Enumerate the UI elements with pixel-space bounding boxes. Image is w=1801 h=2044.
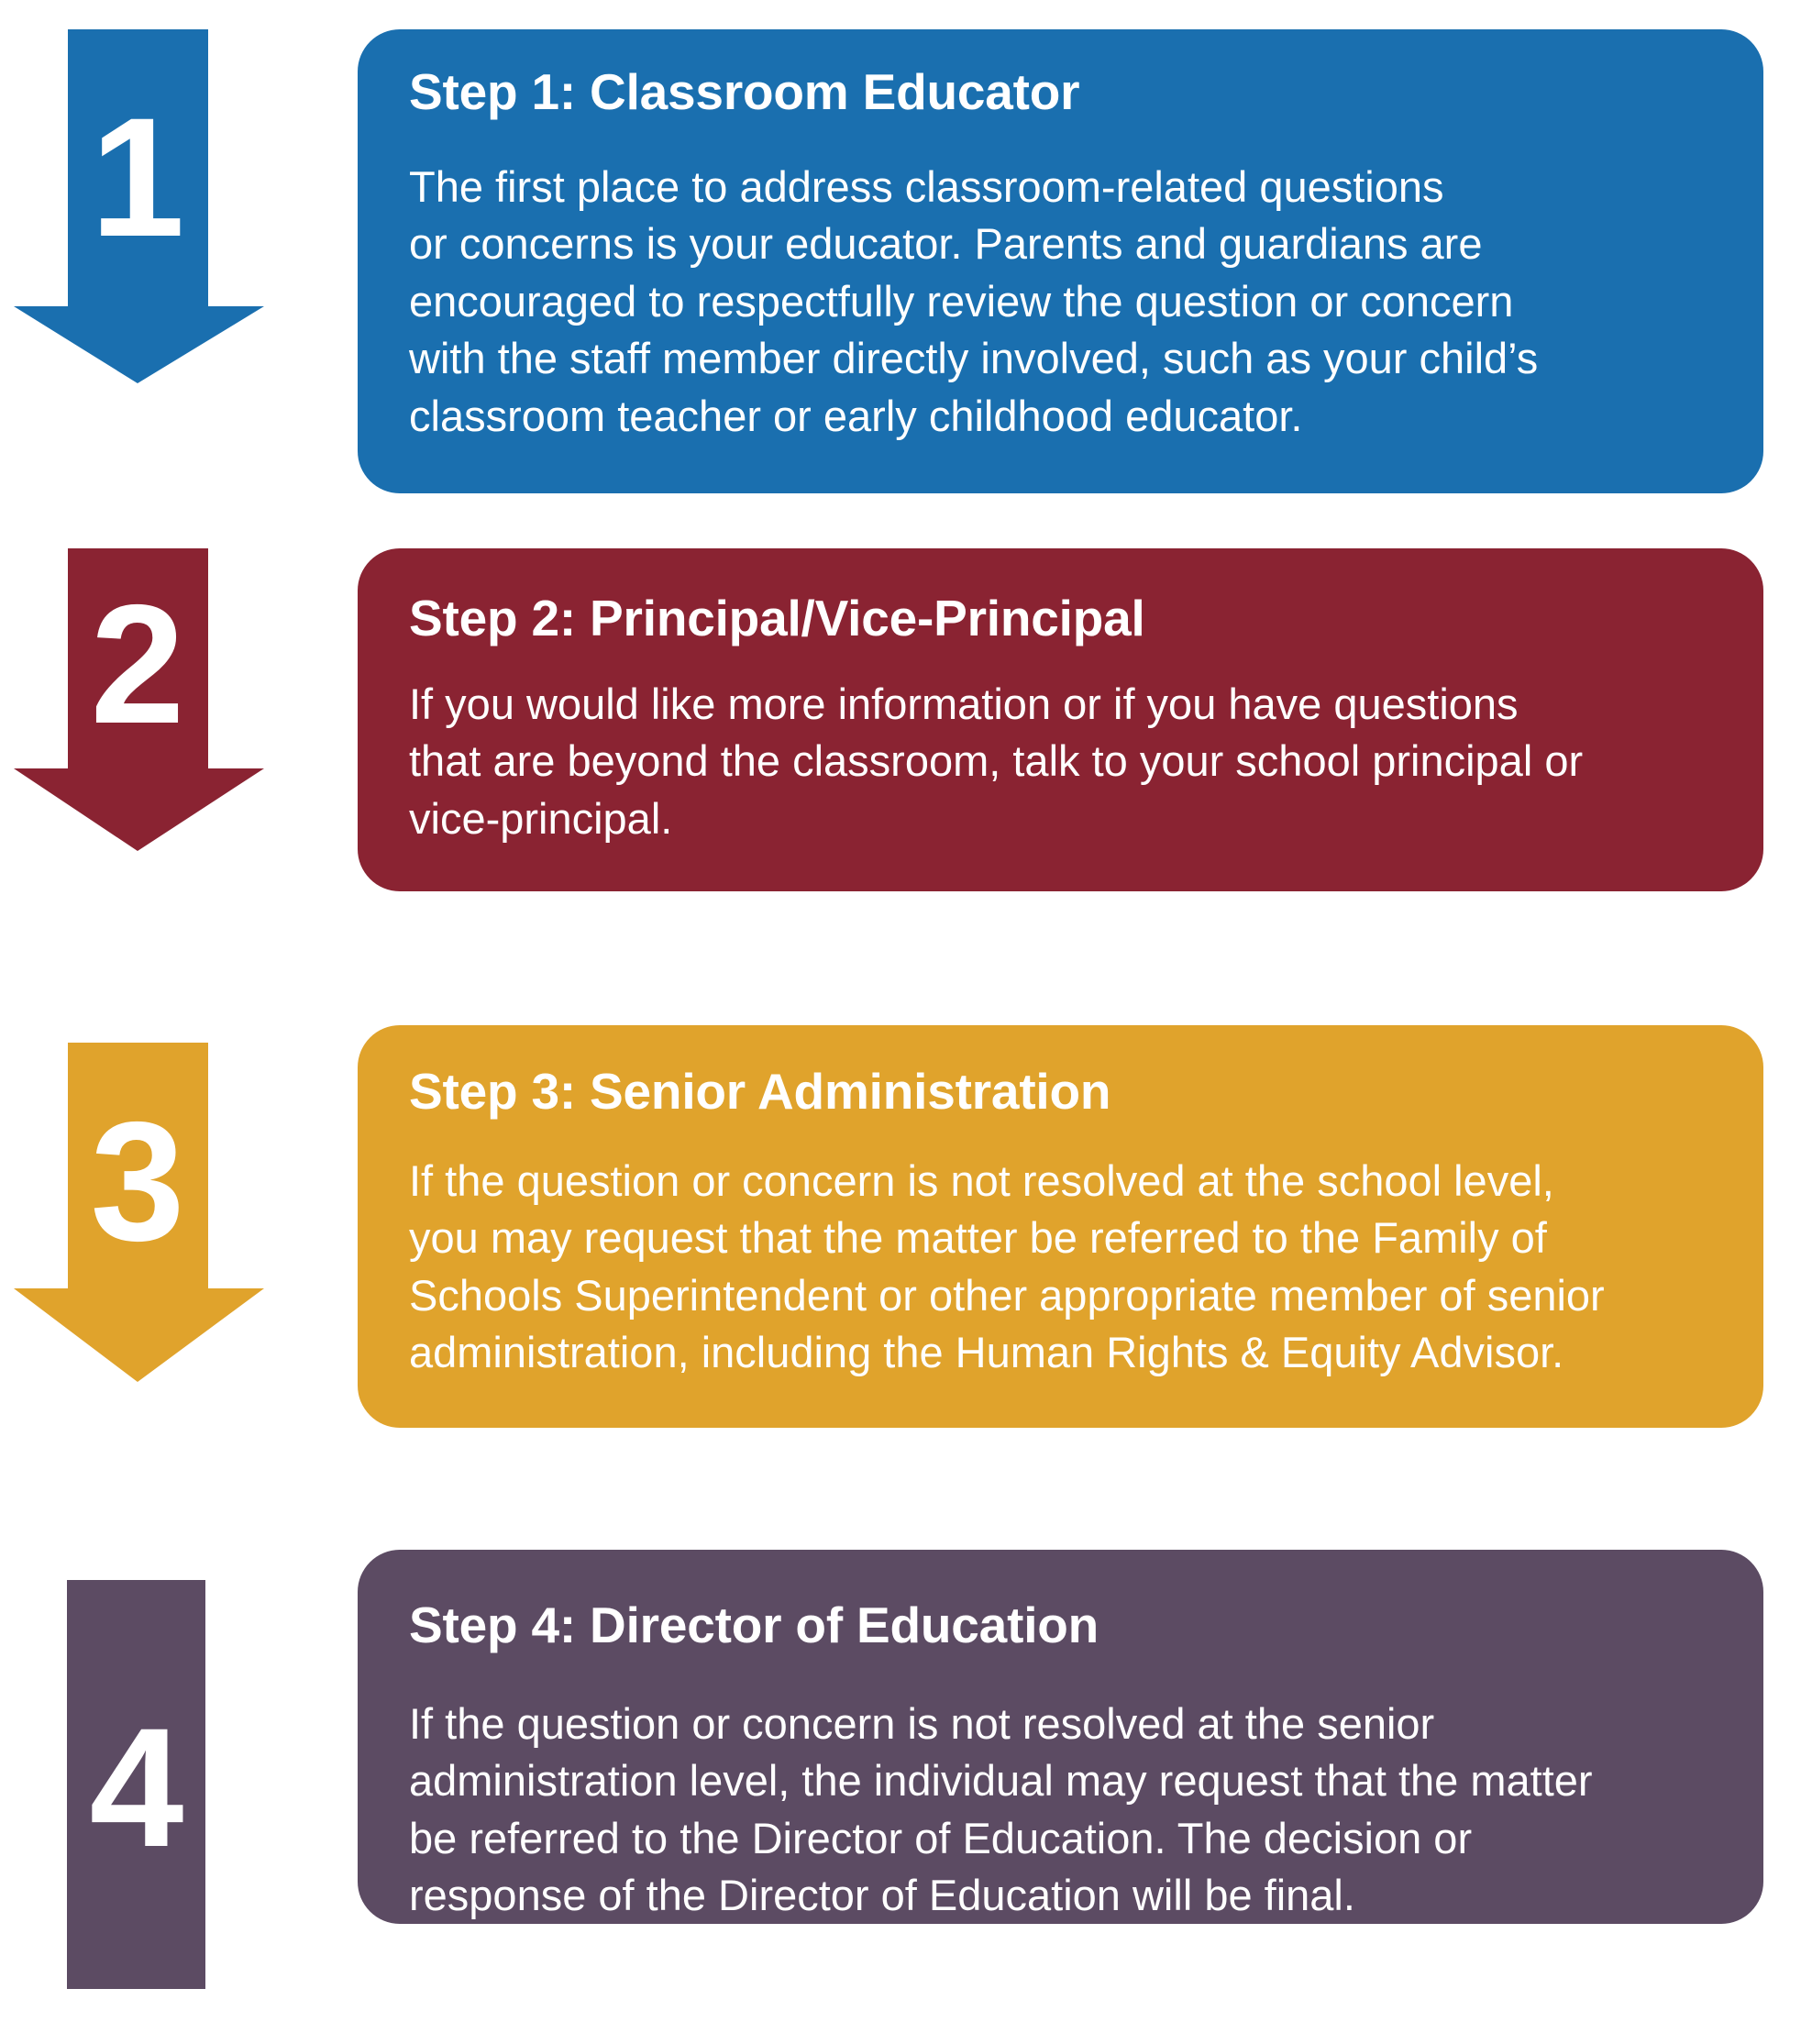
step-1-body-line: or concerns is your educator. Parents an… [409, 215, 1716, 273]
step-3-down-arrow-icon: 3 [0, 1043, 275, 1428]
step-1-title: Step 1: Classroom Educator [409, 62, 1716, 122]
step-1-body: The first place to address classroom-rel… [409, 159, 1716, 446]
step-2-card: Step 2: Principal/Vice-Principal If you … [358, 548, 1763, 891]
step-2-down-arrow-icon: 2 [0, 548, 275, 906]
step-3-card: Step 3: Senior Administration If the que… [358, 1025, 1763, 1428]
step-1-body-line: The first place to address classroom-rel… [409, 159, 1716, 216]
step-4-title: Step 4: Director of Education [409, 1596, 1716, 1655]
step-2-body-line: vice-principal. [409, 790, 1716, 848]
step-3-body-line: Schools Superintendent or other appropri… [409, 1267, 1716, 1325]
step-1-body-line: classroom teacher or early childhood edu… [409, 388, 1716, 446]
step-3-body-line: administration, including the Human Righ… [409, 1324, 1716, 1382]
step-2-body-line: If you would like more information or if… [409, 676, 1716, 734]
step-2-number: 2 [91, 570, 185, 759]
step-4-body-line: response of the Director of Education wi… [409, 1867, 1716, 1925]
step-3-body-line: If the question or concern is not resolv… [409, 1153, 1716, 1210]
step-4-vertical-bar-icon: 4 [0, 1580, 275, 1989]
step-2-body-line: that are beyond the classroom, talk to y… [409, 733, 1716, 790]
step-2-body: If you would like more information or if… [409, 676, 1716, 848]
step-4-card: Step 4: Director of Education If the que… [358, 1550, 1763, 1924]
step-1-body-line: with the staff member directly involved,… [409, 330, 1716, 388]
step-4-number: 4 [90, 1694, 184, 1883]
step-3-number: 3 [91, 1088, 185, 1276]
step-1-down-arrow-icon: 1 [0, 29, 275, 387]
step-3-body: If the question or concern is not resolv… [409, 1153, 1716, 1382]
infographic-canvas: 1 Step 1: Classroom Educator The first p… [0, 0, 1801, 2044]
step-2-title: Step 2: Principal/Vice-Principal [409, 589, 1716, 648]
step-3-title: Step 3: Senior Administration [409, 1062, 1716, 1121]
step-1-number: 1 [91, 83, 185, 272]
step-4-body-line: be referred to the Director of Education… [409, 1810, 1716, 1868]
step-4-body: If the question or concern is not resolv… [409, 1696, 1716, 1925]
step-4-body-line: administration level, the individual may… [409, 1752, 1716, 1810]
step-3-body-line: you may request that the matter be refer… [409, 1210, 1716, 1267]
step-1-body-line: encouraged to respectfully review the qu… [409, 273, 1716, 331]
step-1-card: Step 1: Classroom Educator The first pla… [358, 29, 1763, 493]
step-4-body-line: If the question or concern is not resolv… [409, 1696, 1716, 1753]
